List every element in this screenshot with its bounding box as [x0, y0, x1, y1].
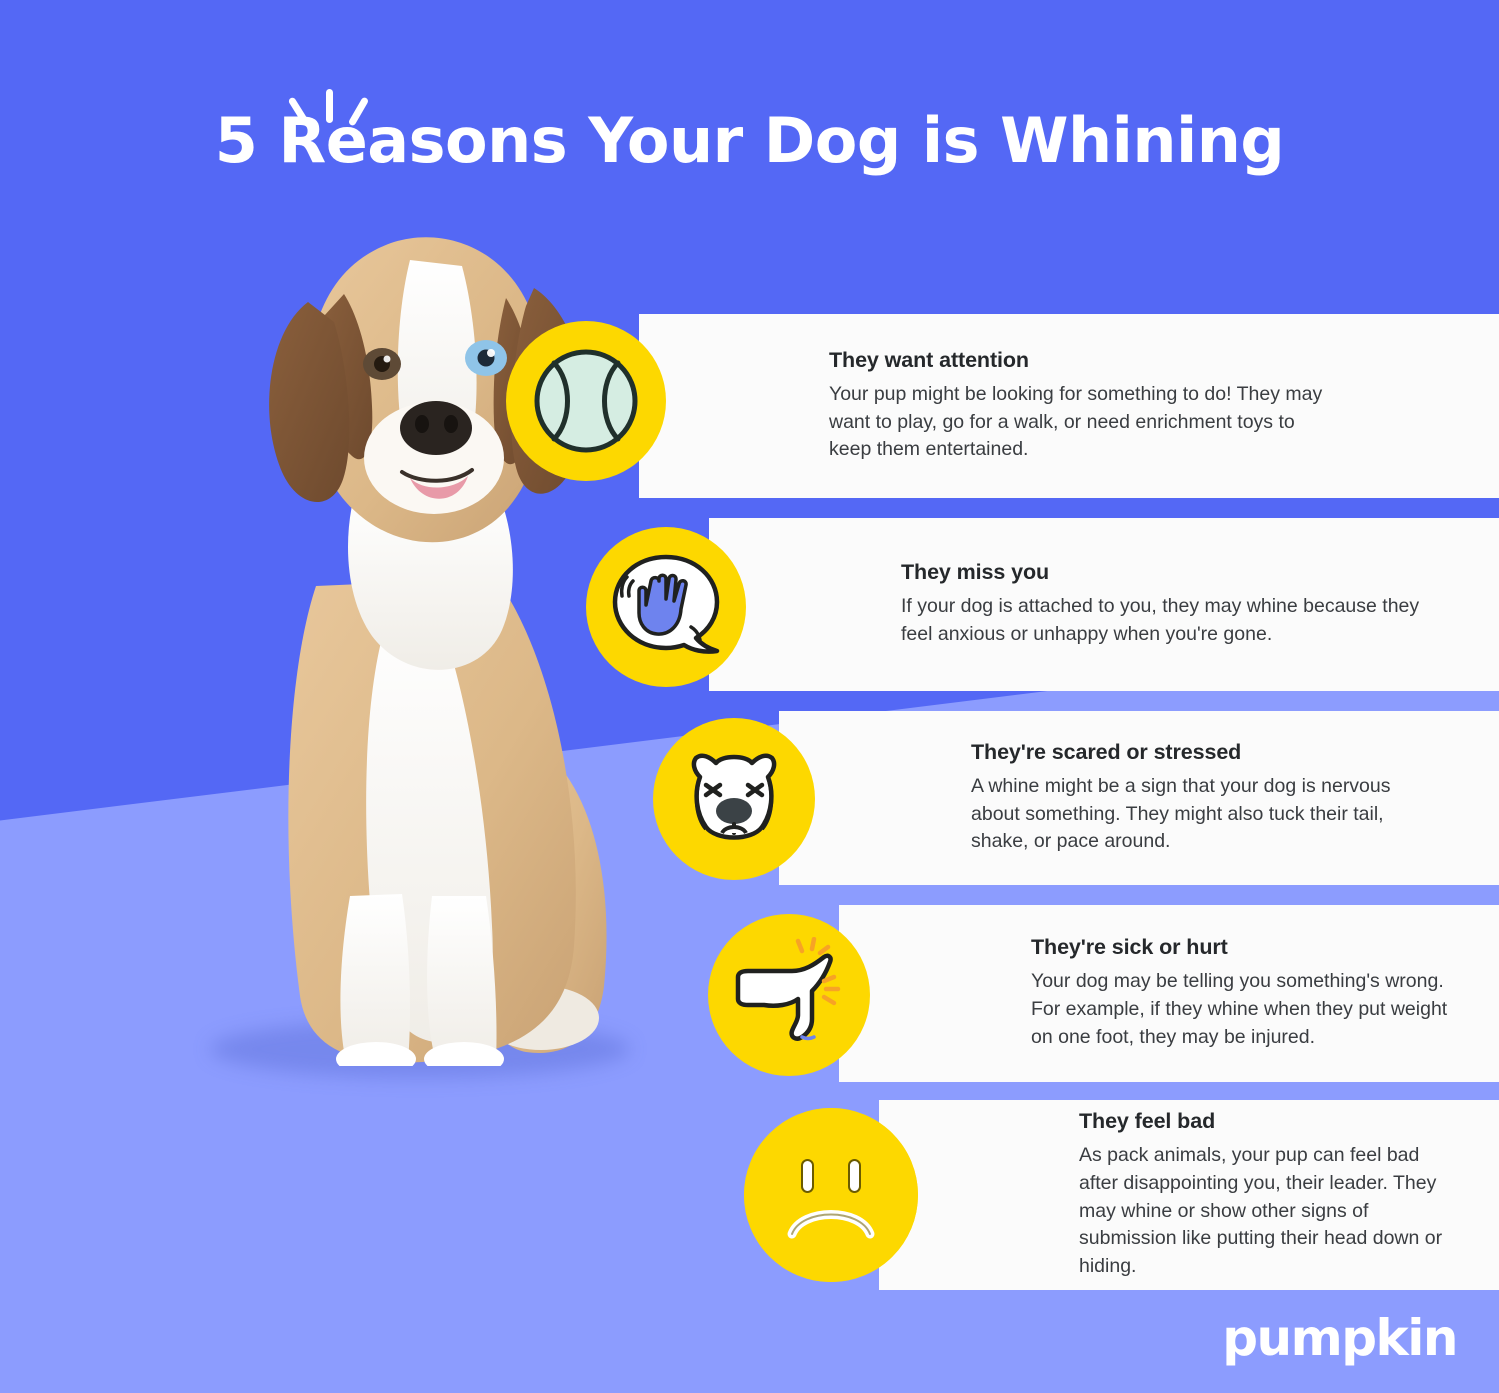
pumpkin-logo: pumpkin	[1222, 1309, 1457, 1367]
sad-face-icon	[744, 1108, 918, 1282]
reason-title: They're scared or stressed	[971, 740, 1441, 765]
reason-card-3: They're scared or stressed A whine might…	[779, 711, 1499, 885]
tennis-ball-icon	[506, 321, 666, 481]
reason-text: If your dog is attached to you, they may…	[901, 593, 1421, 648]
reason-text: Your dog may be telling you something's …	[1031, 968, 1456, 1051]
reason-card-5: They feel bad As pack animals, your pup …	[879, 1100, 1499, 1290]
reason-text: Your pup might be looking for something …	[829, 381, 1329, 464]
scared-dog-face-icon	[653, 718, 815, 880]
reason-card-2: They miss you If your dog is attached to…	[709, 518, 1499, 691]
reason-text: A whine might be a sign that your dog is…	[971, 773, 1441, 856]
reason-title: They're sick or hurt	[1031, 935, 1456, 960]
reason-title: They miss you	[901, 560, 1421, 585]
infographic-poster: 5 Reasons Your Dog is Whining	[0, 0, 1499, 1393]
waving-hand-speech-bubble-icon	[586, 527, 746, 687]
reason-title: They feel bad	[1079, 1109, 1459, 1134]
reason-text: As pack animals, your pup can feel bad a…	[1079, 1142, 1459, 1280]
injured-dog-leg-icon	[708, 914, 870, 1076]
reason-card-1: They want attention Your pup might be lo…	[639, 314, 1499, 498]
reason-card-4: They're sick or hurt Your dog may be tel…	[839, 905, 1499, 1082]
reason-title: They want attention	[829, 348, 1329, 373]
